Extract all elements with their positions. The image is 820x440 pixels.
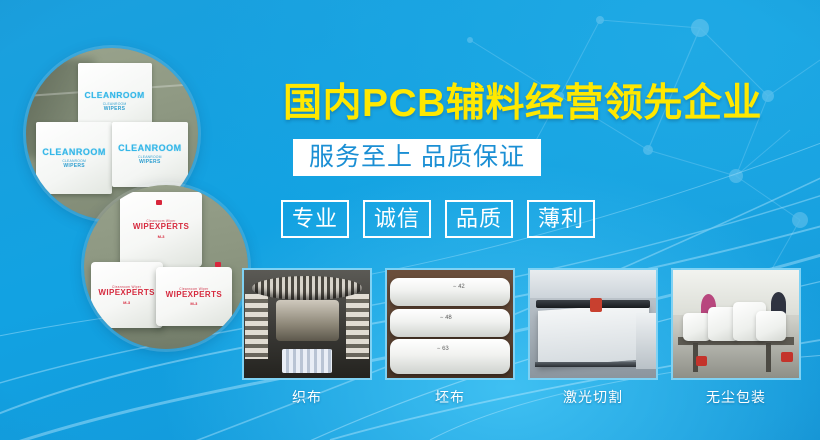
- thumbnail-caption: 坯布: [385, 387, 515, 407]
- cleanroom-pack: CLEANROOM CLEANROOM WIPERS: [112, 122, 188, 187]
- thumbnail-caption: 织布: [242, 387, 372, 407]
- wipexperts-bale: Cleanroom Wiper WIPEXPERTS M-3: [91, 262, 163, 328]
- keyword-tag-chengxin: 诚信: [363, 200, 431, 238]
- bale-brand-label: WIPEXPERTS: [98, 289, 154, 298]
- cleanroom-pack: CLEANROOM CLEANROOM WIPERS: [36, 122, 112, 194]
- thumbnail-caption: 激光切割: [528, 387, 658, 407]
- pack-sub2-label: WIPERS: [139, 159, 161, 165]
- process-thumbnail-strip: 织布 ~ 42 ~ 48 ~ 63 坯布: [242, 268, 801, 407]
- bale-brand-label: WIPEXPERTS: [166, 291, 222, 300]
- bale-red-dot: [215, 262, 221, 267]
- keyword-tag-zhuanye: 专业: [281, 200, 349, 238]
- bale-mark-label: M-3: [190, 301, 197, 306]
- promo-banner: CLEANROOM CLEANROOM WIPERS CLEANROOM CLE…: [0, 0, 820, 440]
- pack-brand-label: CLEANROOM: [84, 91, 144, 100]
- bale-mark-label: M-3: [158, 234, 165, 239]
- keyword-tag-pinzhi: 品质: [445, 200, 513, 238]
- thumbnail-item-laser-cutting[interactable]: 激光切割: [528, 268, 658, 407]
- keyword-tag-baoli: 薄利: [527, 200, 595, 238]
- bale-brand-label: WIPEXPERTS: [133, 223, 189, 232]
- page-title: 国内PCB辅料经营领先企业: [283, 72, 762, 128]
- bale-red-dot: [156, 200, 162, 205]
- pack-sub2-label: WIPERS: [63, 163, 85, 169]
- photo-circle-wipexperts: Cleanroom Wiper WIPEXPERTS M-3 Cleanroom…: [84, 185, 248, 349]
- pack-brand-label: CLEANROOM: [118, 144, 182, 153]
- slogan-text: 服务至上 品质保证: [309, 143, 525, 171]
- pack-brand-label: CLEANROOM: [42, 148, 106, 157]
- slogan-box: 服务至上 品质保证: [293, 139, 541, 176]
- thumbnail-item-greige-cloth[interactable]: ~ 42 ~ 48 ~ 63 坯布: [385, 268, 515, 407]
- thumbnail-item-cleanroom-packing[interactable]: 无尘包装: [671, 268, 801, 407]
- thumbnail-image-cleanroom-packing[interactable]: [671, 268, 801, 380]
- pack-sub2-label: WIPERS: [104, 106, 126, 112]
- keyword-tag-list: 专业 诚信 品质 薄利: [281, 200, 595, 238]
- thumbnail-image-greige-cloth[interactable]: ~ 42 ~ 48 ~ 63: [385, 268, 515, 380]
- thumbnail-image-weaving[interactable]: [242, 268, 372, 380]
- thumbnail-item-weaving[interactable]: 织布: [242, 268, 372, 407]
- thumbnail-image-laser-cutting[interactable]: [528, 268, 658, 380]
- wipexperts-scene: Cleanroom Wiper WIPEXPERTS M-3 Cleanroom…: [84, 185, 248, 349]
- thumbnail-caption: 无尘包装: [671, 387, 801, 407]
- bale-mark-label: M-3: [123, 300, 130, 305]
- wipexperts-bale: Cleanroom Wiper WIPEXPERTS M-3: [156, 267, 231, 326]
